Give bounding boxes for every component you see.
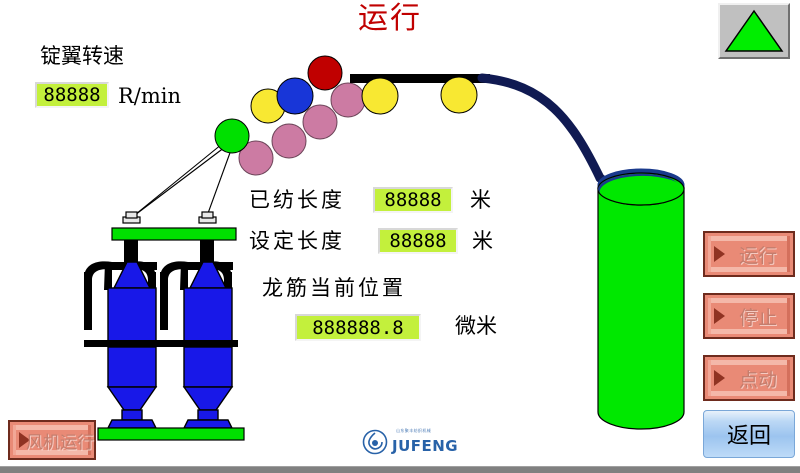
- jufeng-logo: 山东聚丰纺织机械 JUFENG: [362, 425, 458, 459]
- play-arrow-icon: [714, 308, 725, 324]
- button-bevel-left: [708, 236, 711, 272]
- spindle-speed-unit: R/min: [118, 84, 181, 108]
- spindle-speed-value[interactable]: 88888: [35, 82, 109, 108]
- run-button[interactable]: 运行: [703, 231, 795, 277]
- spun-length-value[interactable]: 88888: [373, 187, 453, 213]
- back-button[interactable]: 返回: [703, 410, 795, 458]
- rib-position-value[interactable]: 888888.8: [295, 314, 421, 341]
- button-bevel-left: [708, 360, 711, 396]
- spun-length-unit: 米: [470, 188, 491, 212]
- rib-position-unit: 微米: [455, 314, 497, 338]
- set-length-unit: 米: [472, 229, 493, 253]
- run-button-label: 运行: [727, 233, 789, 275]
- status-triangle-indicator[interactable]: [718, 3, 790, 59]
- fan-run-button[interactable]: 风机运行: [8, 420, 96, 460]
- button-bevel-left: [13, 425, 16, 455]
- page-title: 运行: [320, 2, 460, 36]
- swirl-drop-icon: [362, 429, 388, 455]
- stop-button[interactable]: 停止: [703, 293, 795, 339]
- set-length-value[interactable]: 88888: [378, 228, 458, 254]
- set-length-label: 设定长度: [249, 229, 345, 253]
- button-bevel-left: [708, 298, 711, 334]
- hmi-screen: 运行 锭翼转速 88888 R/min 已纺长度 88888 米 设定长度 88…: [0, 0, 800, 473]
- play-arrow-icon: [714, 370, 725, 386]
- jog-button-label: 点动: [727, 357, 789, 399]
- triangle-up-icon: [724, 9, 784, 53]
- jog-button[interactable]: 点动: [703, 355, 795, 401]
- status-bar: [0, 466, 800, 473]
- fan-run-button-label: 风机运行: [30, 422, 90, 458]
- spun-length-label: 已纺长度: [249, 188, 345, 212]
- rib-position-label: 龙筋当前位置: [262, 276, 406, 300]
- play-arrow-icon: [714, 246, 725, 262]
- spindle-speed-label: 锭翼转速: [40, 44, 124, 68]
- status-bar-highlight: [0, 466, 800, 467]
- logo-tagline: 山东聚丰纺织机械: [396, 428, 431, 434]
- stop-button-label: 停止: [727, 295, 789, 337]
- logo-wordmark: JUFENG: [392, 437, 458, 455]
